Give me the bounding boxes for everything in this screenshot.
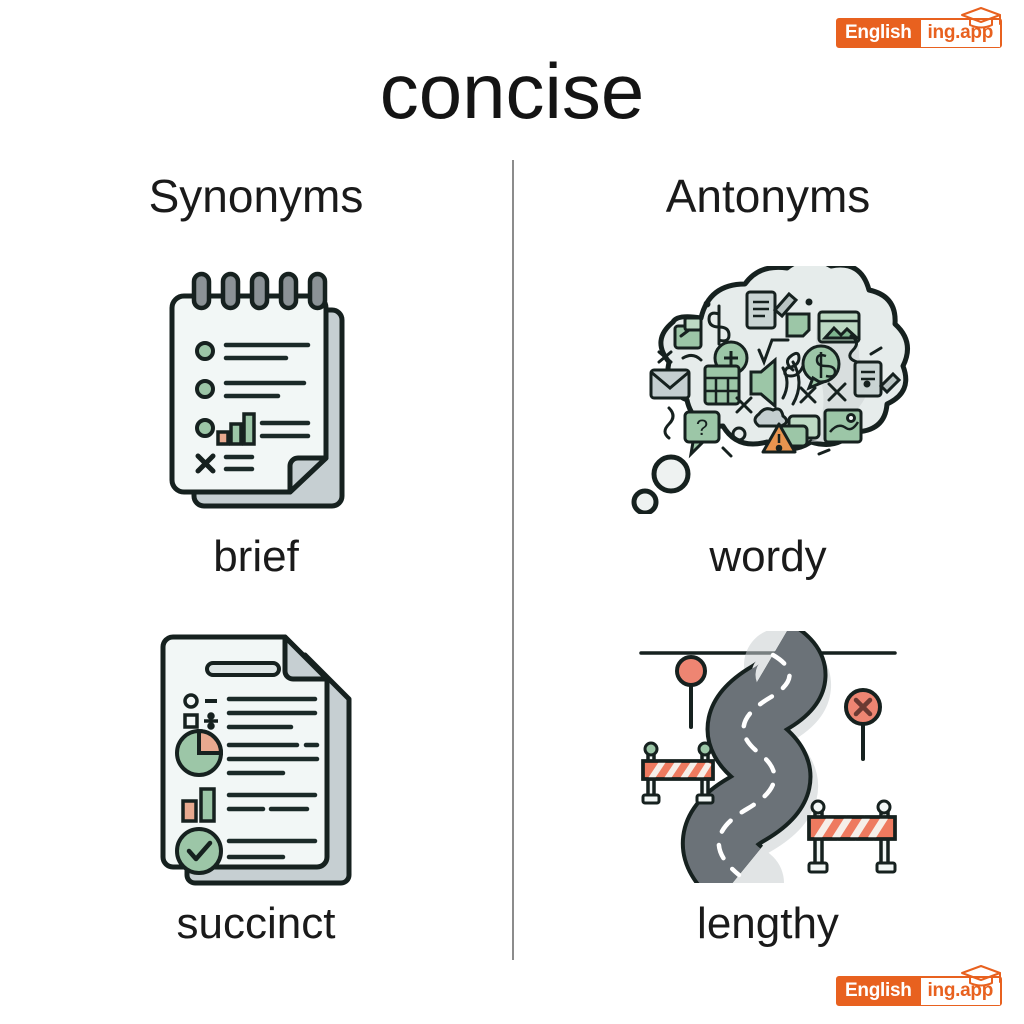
- entry-wordy: ?: [512, 265, 1024, 587]
- brand-logo-top[interactable]: English ing.app: [836, 18, 1002, 48]
- vocabulary-card: English ing.app English ing.app concise …: [0, 0, 1024, 1024]
- entry-lengthy: lengthy: [512, 632, 1024, 954]
- word-label: wordy: [512, 527, 1024, 587]
- graduation-cap-icon: [958, 963, 1004, 989]
- entry-brief: brief: [0, 265, 512, 587]
- document-art: [0, 632, 512, 882]
- word-label: succinct: [0, 894, 512, 954]
- notepad-checklist-icon: [156, 266, 356, 514]
- winding-road-art: [512, 632, 1024, 882]
- word-label: lengthy: [512, 894, 1024, 954]
- brand-logo-left-text: English: [838, 20, 919, 47]
- graduation-cap-icon: [958, 5, 1004, 31]
- winding-road-icon: [623, 631, 913, 883]
- document-report-icon: [151, 623, 361, 891]
- road-sign-x: [846, 690, 880, 759]
- entry-succinct: succinct: [0, 632, 512, 954]
- antonyms-header: Antonyms: [512, 168, 1024, 224]
- page-title: concise: [0, 48, 1024, 134]
- notepad-art: [0, 265, 512, 515]
- barricade-left: [643, 743, 713, 803]
- brand-logo-left-text: English: [838, 978, 919, 1005]
- thought-cloud-art: ?: [512, 265, 1024, 515]
- barricade-right: [809, 801, 895, 872]
- brand-logo-bottom[interactable]: English ing.app: [836, 976, 1002, 1006]
- svg-text:?: ?: [696, 415, 708, 440]
- thought-cloud-cluttered-icon: ?: [623, 266, 913, 514]
- road-sign-circle: [677, 657, 705, 727]
- word-label: brief: [0, 527, 512, 587]
- synonyms-header: Synonyms: [0, 168, 512, 224]
